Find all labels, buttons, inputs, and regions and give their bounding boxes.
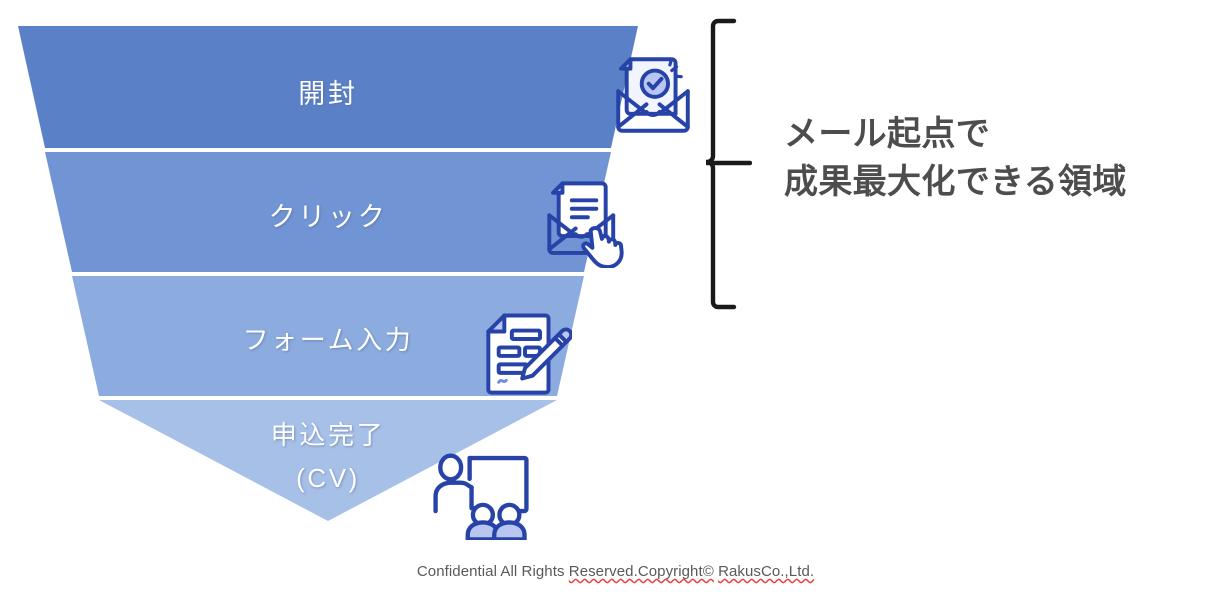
footer-copyright: Confidential All Rights Reserved.Copyrig… [0,563,1231,580]
conversion-funnel: 開封 クリック フォーム入力 申込完了 (CV) [0,0,700,560]
callout-line-1: メール起点で [784,110,1224,158]
seminar-people-icon [428,448,534,540]
footer-part-company: RakusCo.,Ltd. [718,563,814,580]
open-mail-check-icon [606,48,700,142]
callout-line-2: 成果最大化できる領域 [784,158,1224,206]
footer-part-confidential: Confidential All Rights [417,563,569,580]
slide-canvas: 開封 クリック フォーム入力 申込完了 (CV) [0,0,1231,600]
callout-text: メール起点で 成果最大化できる領域 [784,110,1224,207]
range-bracket [706,18,752,310]
funnel-band-cv[interactable] [0,0,700,560]
footer-part-reserved-copyright: Reserved.Copyright© [569,563,714,580]
form-pencil-icon [478,308,572,402]
mail-click-hand-icon [538,174,632,268]
